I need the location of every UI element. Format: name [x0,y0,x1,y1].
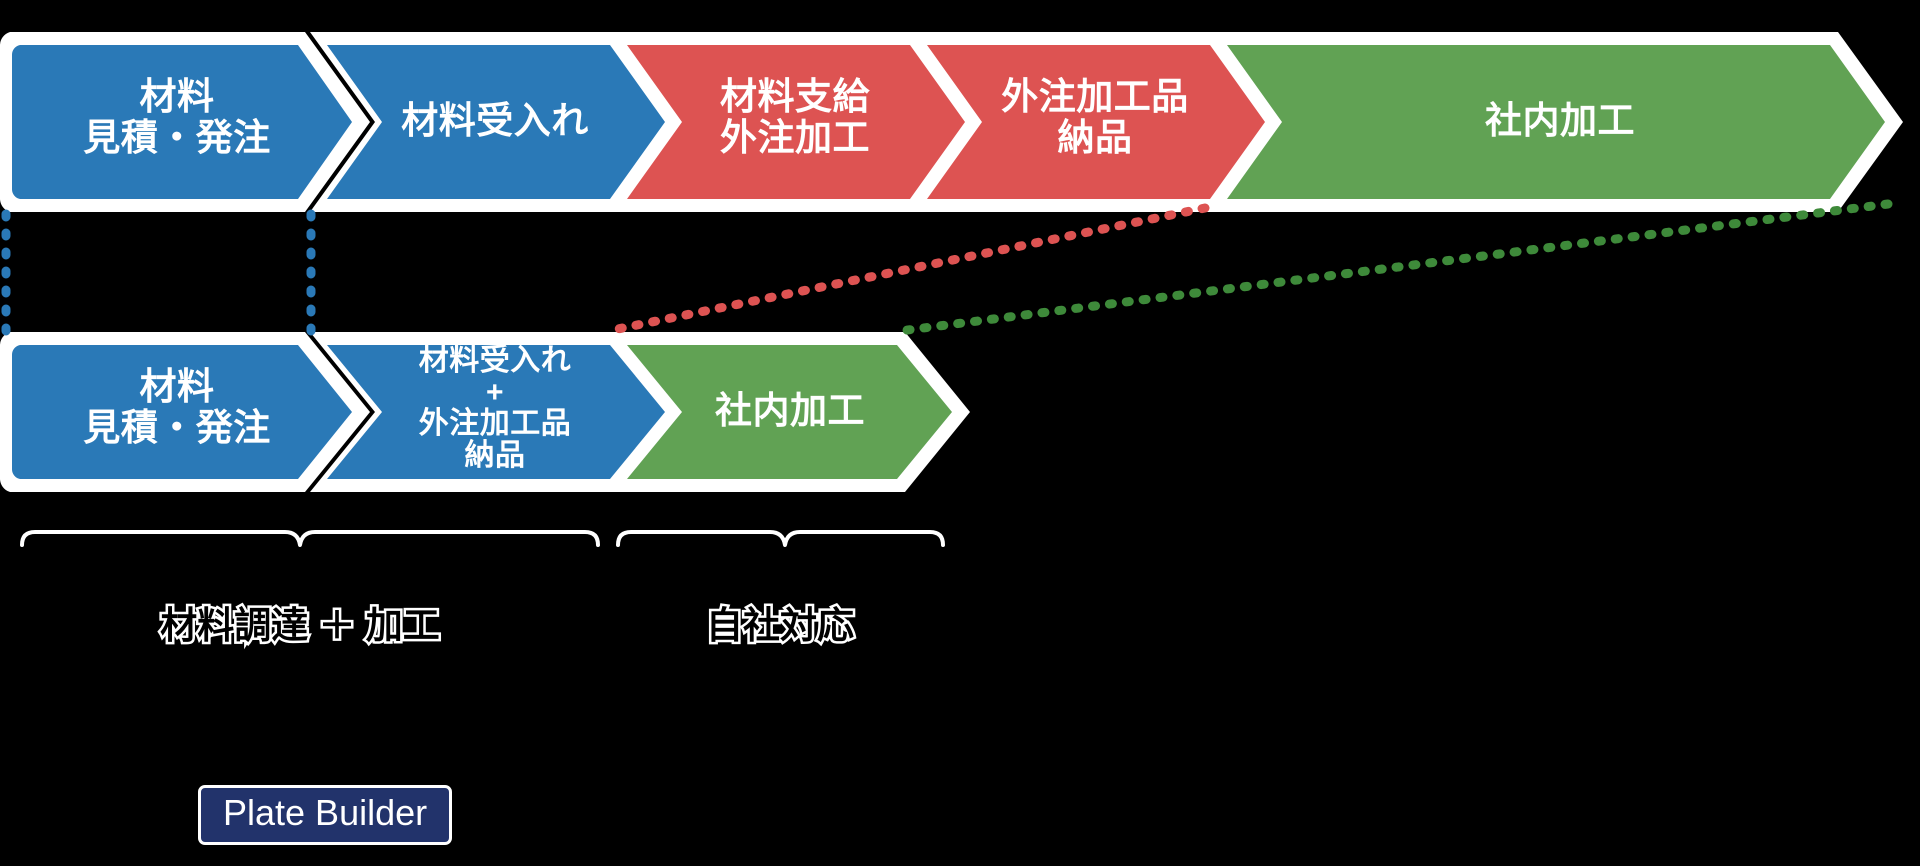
row1-chevrons [12,45,1885,199]
brace-in-house [618,532,943,545]
group-label-material-procurement: 材料調達 ＋ 加工 [0,595,600,649]
group-label-material-procurement-text: 材料調達 ＋ 加工 [160,605,440,646]
dotted-connectors [6,204,1888,332]
brace-material-procurement [22,532,598,545]
row2-chevrons [12,345,952,479]
group-label-in-house: 自社対応 [600,595,960,649]
diagram-svg [0,0,1920,866]
green-dotted-collapse [900,204,1888,331]
row1-step-1 [12,45,352,199]
group-label-in-house-text: 自社対応 [706,605,854,646]
diagram-canvas: 材料 見積・発注 材料受入れ 材料支給 外注加工 外注加工品 納品 社内加工 材… [0,0,1920,866]
row1-step-5 [1227,45,1885,199]
plate-builder-badge[interactable]: Plate Builder [198,785,452,845]
group-braces [22,532,943,545]
row2-step-1 [12,345,352,479]
red-dotted-collapse [608,208,1205,331]
